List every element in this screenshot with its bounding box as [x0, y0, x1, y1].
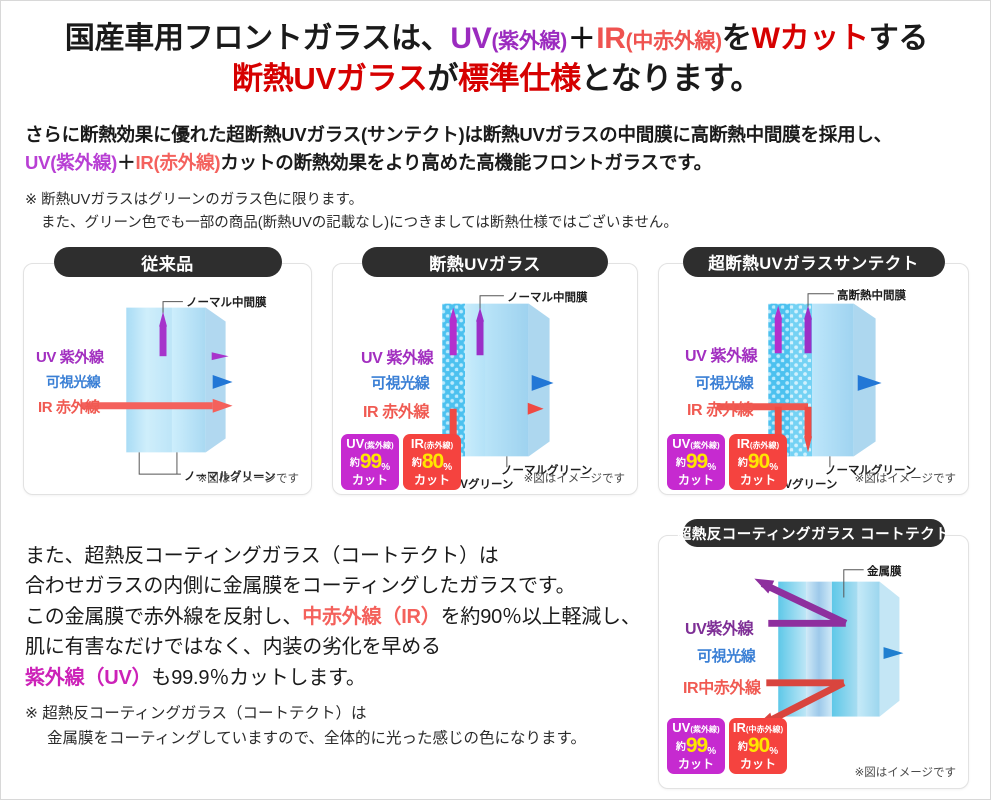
infographic-root: 国産車用フロントガラスは、UV(紫外線)＋IR(中赤外線)をWカットする 断熱U… — [0, 0, 991, 800]
cut-badges: UV(紫外線) 約99% カット IR(赤外線) 約80% カット — [341, 434, 461, 490]
image-note: ※図はイメージです — [198, 470, 299, 486]
leader-interlayer: ノーマル中間膜 — [186, 294, 267, 310]
cut-badges: UV(紫外線) 約99% カット IR(中赤外線) 約90% カット — [667, 718, 787, 774]
badge-ir-cut-label: カット — [729, 758, 787, 770]
label-uv-ray: UV 紫外線 — [361, 344, 433, 368]
badge-ir-heading: IR(赤外線) — [403, 437, 461, 450]
label-visible-ray: 可視光線 — [697, 645, 755, 666]
badge-ir-cut: IR(赤外線) 約80% カット — [403, 434, 461, 490]
lead-paragraph: さらに断熱効果に優れた超断熱UVガラス(サンテクト)は断熱UVガラスの中間膜に高… — [25, 121, 975, 177]
badge-ir-cut-label: カット — [729, 474, 787, 486]
label-ir-ray: IR 赤外線 — [363, 398, 429, 422]
badge-uv-cut: UV(紫外線) 約99% カット — [341, 434, 399, 490]
badge-uv-heading: UV(紫外線) — [667, 721, 725, 734]
body-line-5: 紫外線（UV）も99.9％カットします。 — [25, 663, 645, 693]
badge-uv-cut: UV(紫外線) 約99% カット — [667, 434, 725, 490]
note-bottom: ※ 超熱反コーティングガラス（コートテクト）は 金属膜をコーティングしていますの… — [25, 701, 645, 751]
lead-line-1: さらに断熱効果に優れた超断熱UVガラス(サンテクト)は断熱UVガラスの中間膜に高… — [25, 121, 975, 149]
badge-ir-value: 約90% — [729, 451, 787, 473]
body-line-1: また、超熱反コーティングガラス（コートテクト）は — [25, 541, 645, 571]
label-ir-ray: IR 赤外線 — [38, 396, 100, 417]
label-visible-ray: 可視光線 — [371, 372, 429, 393]
badge-uv-cut: UV(紫外線) 約99% カット — [667, 718, 725, 774]
label-ir-ray: IR 赤外線 — [687, 396, 753, 420]
page-title: 国産車用フロントガラスは、UV(紫外線)＋IR(中赤外線)をWカットする 断熱U… — [1, 21, 991, 98]
badge-ir-value: 約80% — [403, 451, 461, 473]
label-visible-ray: 可視光線 — [46, 372, 100, 392]
card-uv-insulated: 断熱UVガラス — [332, 263, 638, 495]
image-note: ※図はイメージです — [855, 470, 956, 486]
badge-uv-heading: UV(紫外線) — [667, 437, 725, 450]
badge-uv-cut-label: カット — [667, 474, 725, 486]
note-top-line-2: また、グリーン色でも一部の商品(断熱UVの記載なし)につきましては断熱仕様ではご… — [25, 212, 975, 235]
badge-uv-value: 約99% — [667, 451, 725, 473]
body-line-3: この金属膜で赤外線を反射し、中赤外線（IR）を約90％以上軽減し、 — [25, 602, 645, 632]
leader-high-insulation-interlayer: 高断熱中間膜 — [837, 287, 906, 303]
body-ir-highlight: 中赤外線（IR） — [302, 606, 440, 628]
body-line-2: 合わせガラスの内側に金属膜をコーティングしたガラスです。 — [25, 571, 645, 601]
badge-uv-value: 約99% — [341, 451, 399, 473]
lead-line-2: UV(紫外線)＋IR(赤外線)カットの断熱効果をより高めた高機能フロントガラスで… — [25, 149, 975, 177]
label-uv-ray: UV紫外線 — [685, 615, 753, 639]
leader-metal-film: 金属膜 — [867, 563, 902, 579]
card-coat-tect: 超熱反コーティングガラス コートテクト — [658, 535, 969, 789]
headline-line-2: 断熱UVガラスが標準仕様となります。 — [1, 61, 991, 98]
headline-red-2: 標準仕様 — [458, 61, 581, 96]
badge-ir-value: 約90% — [729, 735, 787, 757]
body-uv-highlight: 紫外線（UV） — [25, 667, 151, 689]
card-conventional: 従来品 — [23, 263, 312, 495]
note-bottom-line-2: 金属膜をコーティングしていますので、全体的に光った感じの色になります。 — [25, 726, 645, 751]
headline-wcut: Wカット — [752, 22, 869, 55]
note-top: ※ 断熱UVガラスはグリーンのガラス色に限ります。 また、グリーン色でも一部の商… — [25, 189, 975, 236]
label-ir-ray: IR中赤外線 — [683, 674, 761, 698]
headline-plus: ＋ — [567, 23, 596, 54]
card-super-uv-suntect: 超断熱UVガラスサンテクト — [658, 263, 969, 495]
badge-ir-heading: IR(赤外線) — [729, 437, 787, 450]
image-note: ※図はイメージです — [524, 470, 625, 486]
headline-ir-paren: (中赤外線) — [626, 30, 722, 53]
badge-uv-cut-label: カット — [341, 474, 399, 486]
headline-seg-3: する — [869, 22, 928, 55]
headline-tail: となります。 — [581, 61, 761, 96]
headline-mid: が — [427, 61, 458, 96]
leader-interlayer: ノーマル中間膜 — [507, 289, 588, 305]
image-note: ※図はイメージです — [855, 764, 956, 780]
headline-uv: UV — [450, 22, 491, 55]
headline-red-1: 断熱UVガラス — [232, 61, 427, 96]
badge-ir-cut: IR(中赤外線) 約90% カット — [729, 718, 787, 774]
headline-uv-paren: (紫外線) — [491, 30, 567, 53]
lead-uv: UV(紫外線) — [25, 152, 117, 173]
label-visible-ray: 可視光線 — [695, 372, 753, 393]
note-bottom-line-1: ※ 超熱反コーティングガラス（コートテクト）は — [25, 705, 367, 722]
label-uv-ray: UV 紫外線 — [36, 346, 104, 367]
label-uv-ray: UV 紫外線 — [685, 342, 757, 366]
body-line-4: 肌に有害なだけではなく、内装の劣化を早める — [25, 632, 645, 662]
headline-line-1: 国産車用フロントガラスは、UV(紫外線)＋IR(中赤外線)をWカットする — [1, 21, 991, 56]
badge-ir-cut-label: カット — [403, 474, 461, 486]
badge-uv-heading: UV(紫外線) — [341, 437, 399, 450]
badge-uv-cut-label: カット — [667, 758, 725, 770]
headline-seg-1: 国産車用フロントガラスは、 — [65, 22, 451, 55]
cut-badges: UV(紫外線) 約99% カット IR(赤外線) 約90% カット — [667, 434, 787, 490]
lead-ir: IR(赤外線) — [135, 152, 220, 173]
headline-ir: IR — [596, 22, 625, 55]
lead-plus: ＋ — [117, 152, 135, 173]
badge-ir-cut: IR(赤外線) 約90% カット — [729, 434, 787, 490]
coat-tect-description: また、超熱反コーティングガラス（コートテクト）は 合わせガラスの内側に金属膜をコ… — [25, 541, 645, 693]
lead-tail: カットの断熱効果をより高めた高機能フロントガラスです。 — [220, 152, 712, 173]
headline-seg-2: を — [722, 22, 752, 55]
note-top-line-1: ※ 断熱UVガラスはグリーンのガラス色に限ります。 — [25, 192, 363, 208]
badge-ir-heading: IR(中赤外線) — [729, 721, 787, 734]
badge-uv-value: 約99% — [667, 735, 725, 757]
